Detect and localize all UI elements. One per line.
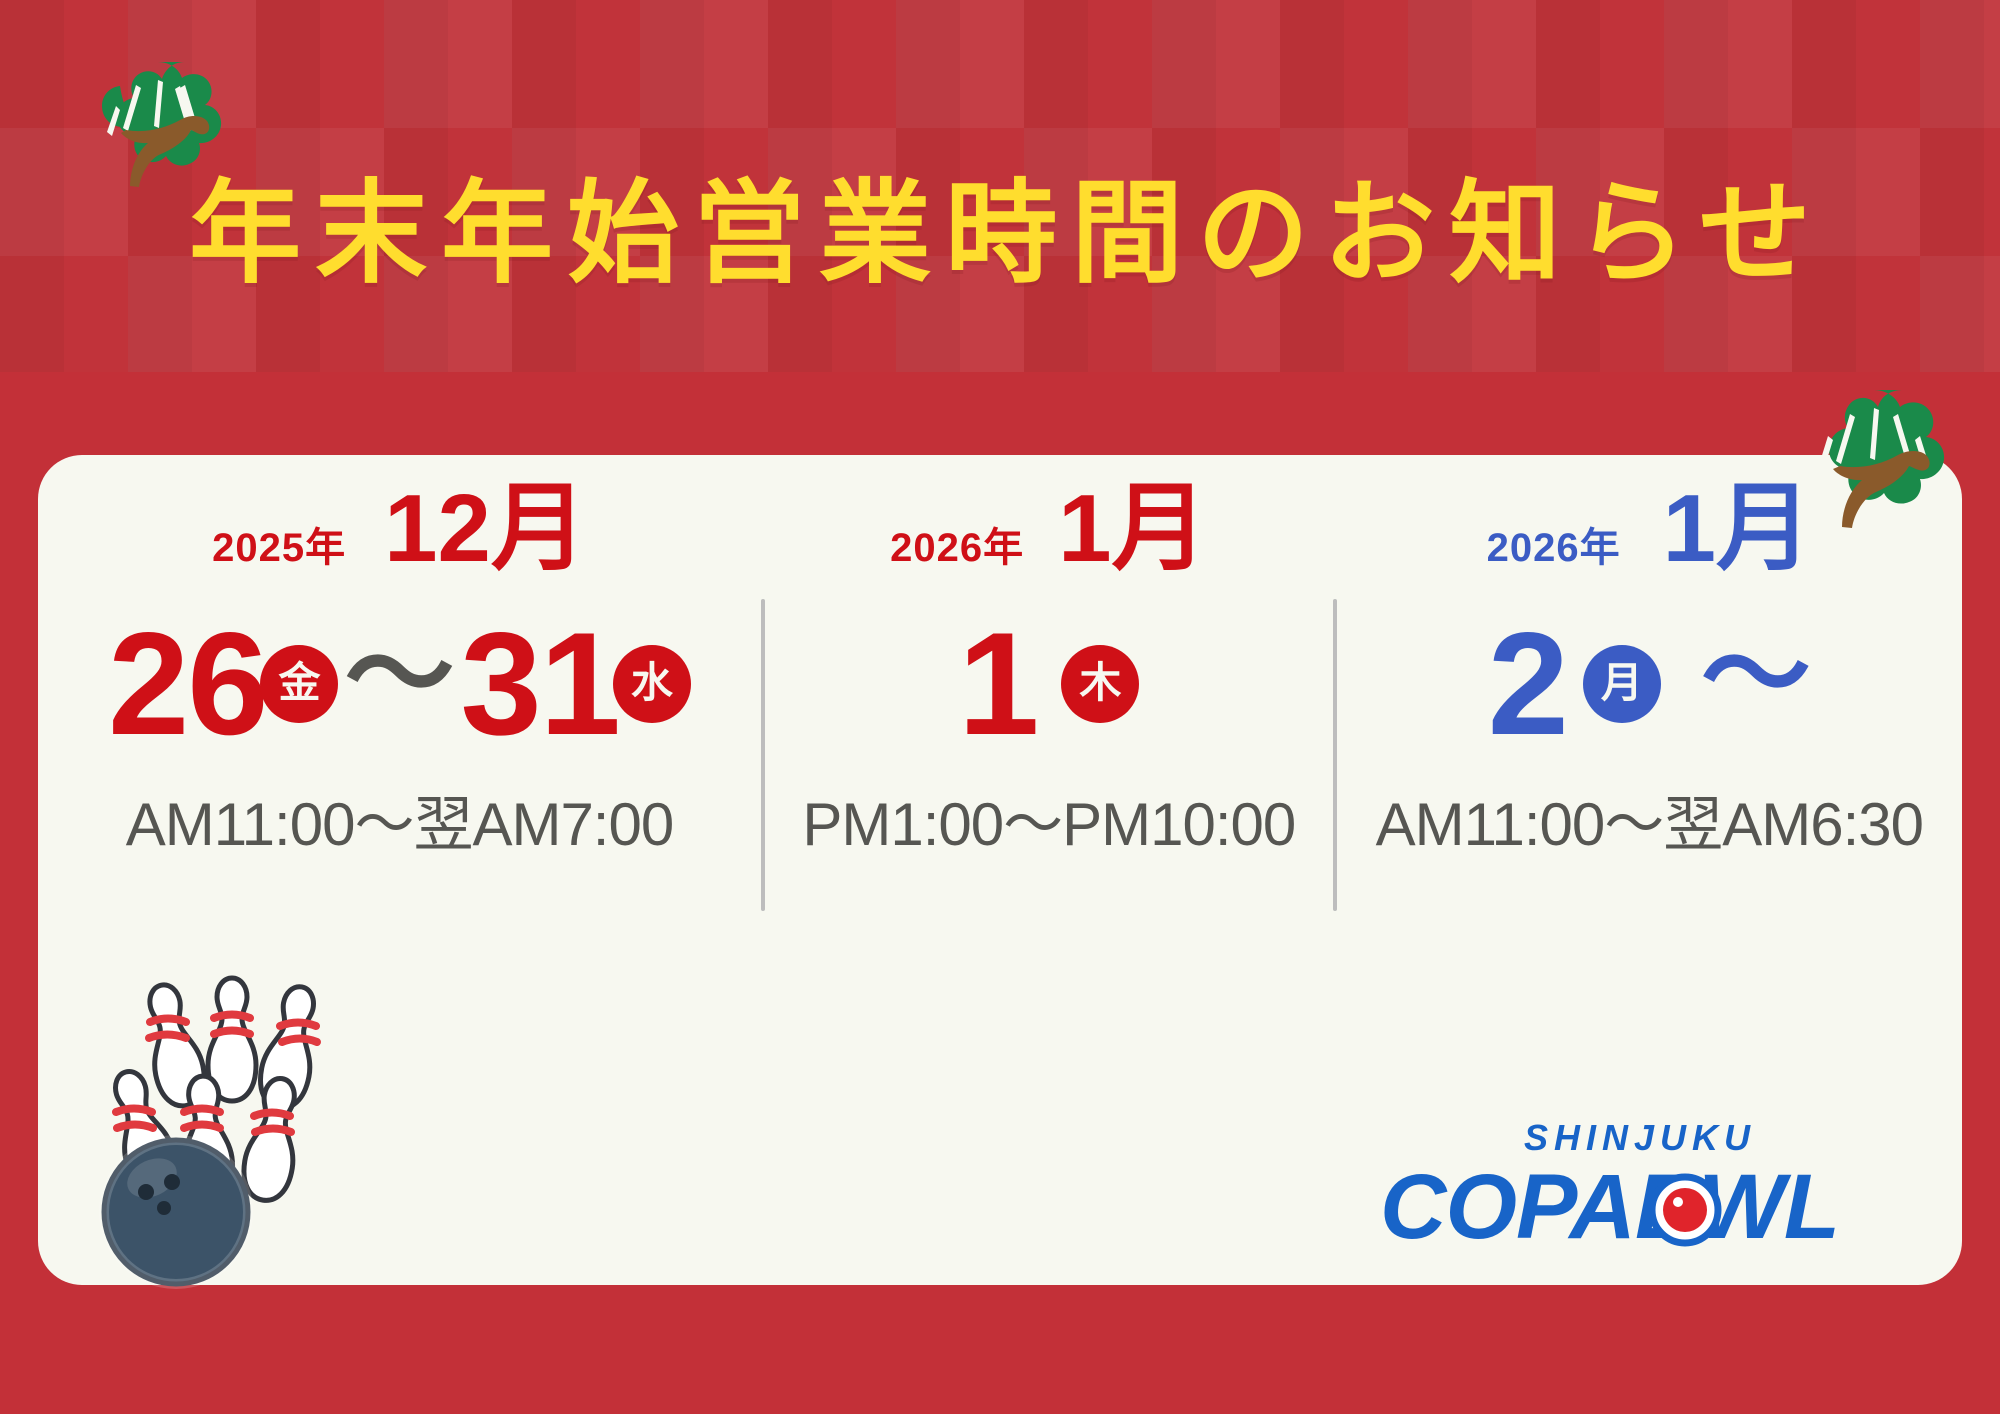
column-1-start-dow-badge: 金 xyxy=(260,645,338,723)
column-3-year-month: 2026年 1月 xyxy=(1487,481,1812,593)
column-3-days: 2 月 ～ xyxy=(1488,609,1811,759)
column-1-days: 26 金 ～ 31 水 xyxy=(108,609,691,759)
column-3-year: 2026年 xyxy=(1487,528,1621,568)
column-2-year: 2026年 xyxy=(890,528,1024,568)
column-1-range-mark: ～ xyxy=(344,621,454,731)
schedule-column-3: 2026年 1月 2 月 ～ AM11:00～翌AM6:30 xyxy=(1337,481,1962,961)
column-3-trailing-mark: ～ xyxy=(1701,621,1811,731)
column-2-days: 1 木 xyxy=(958,609,1139,759)
schedule-column-1: 2025年 12月 26 金 ～ 31 水 AM11:00～翌AM7:00 xyxy=(38,481,761,961)
copabowl-logo: SHINJUKU COPAB WL xyxy=(1380,1120,1900,1260)
column-3-start-dow-badge: 月 xyxy=(1583,645,1661,723)
column-1-month: 12月 xyxy=(384,481,587,577)
column-1-end-dow-badge: 水 xyxy=(613,645,691,723)
logo-main-wrap: COPAB WL xyxy=(1380,1160,1900,1260)
column-1-end-day: 31 xyxy=(460,611,618,757)
bowling-ball-icon xyxy=(1652,1177,1718,1243)
column-2-hours: PM1:00～PM10:00 xyxy=(802,795,1295,855)
column-1-start-day: 26 xyxy=(108,611,266,757)
column-2-start-day: 1 xyxy=(958,611,1037,757)
column-1-year-month: 2025年 12月 xyxy=(212,481,587,593)
schedule-column-2: 2026年 1月 1 木 PM1:00～PM10:00 xyxy=(765,481,1333,961)
column-2-start-dow-badge: 木 xyxy=(1061,645,1139,723)
bowling-pins-and-ball-icon xyxy=(24,960,424,1290)
column-3-start-day: 2 xyxy=(1488,611,1567,757)
column-1-hours: AM11:00～翌AM7:00 xyxy=(126,795,673,855)
column-2-year-month: 2026年 1月 xyxy=(890,481,1207,593)
column-2-month: 1月 xyxy=(1058,481,1207,577)
page-title: 年末年始営業時間のお知らせ xyxy=(0,178,2000,290)
column-3-hours: AM11:00～翌AM6:30 xyxy=(1376,795,1923,855)
column-1-year: 2025年 xyxy=(212,528,346,568)
pine-decoration-icon xyxy=(1770,382,1980,532)
logo-sub-text: SHINJUKU xyxy=(1380,1120,1900,1156)
